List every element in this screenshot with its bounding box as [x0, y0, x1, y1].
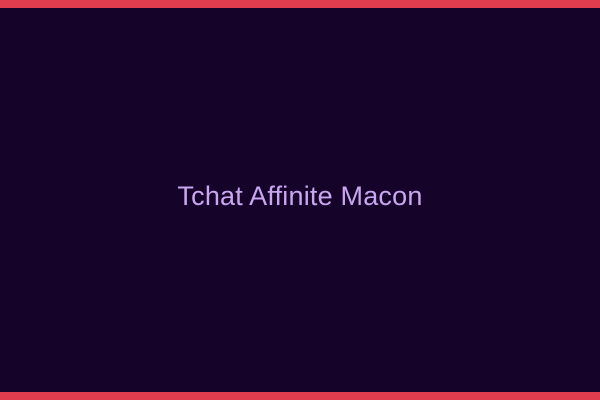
placeholder-page: Tchat Affinite Macon [0, 0, 600, 400]
page-title: Tchat Affinite Macon [177, 180, 422, 212]
top-accent-bar [0, 0, 600, 8]
bottom-accent-bar [0, 392, 600, 400]
content-canvas: Tchat Affinite Macon [0, 8, 600, 392]
